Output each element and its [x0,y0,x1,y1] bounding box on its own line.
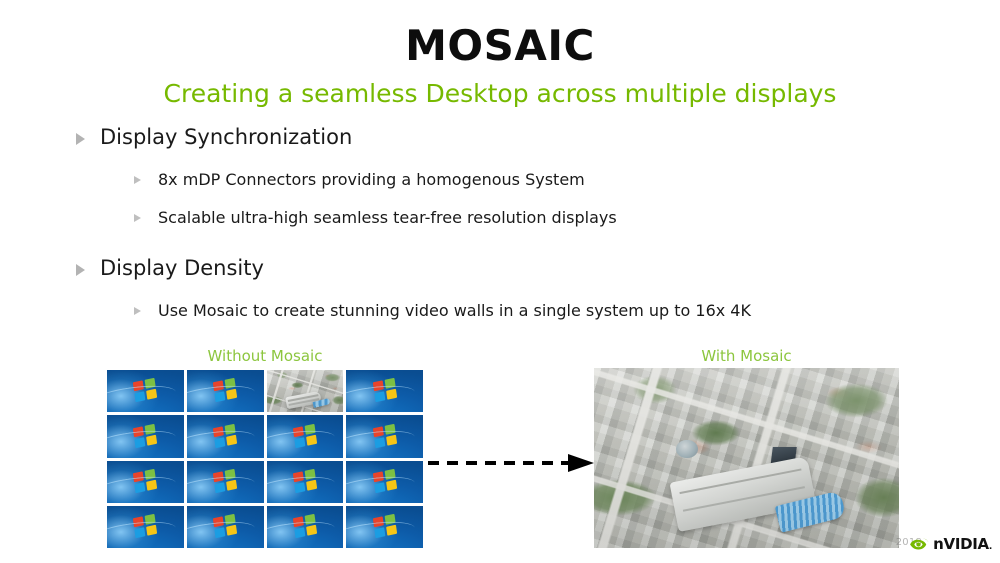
sub-bullet-triangle-icon [134,214,141,222]
windows-logo-icon [372,469,396,493]
bullet-list: Display Synchronization 8x mDP Connector… [70,122,950,327]
monitor-cell-wallpaper [107,461,184,503]
windows-logo-icon [372,378,396,402]
bullet-video-walls: Use Mosaic to create stunning video wall… [70,299,950,324]
aerial-city-image [267,370,344,412]
bullet-scalable-resolution: Scalable ultra-high seamless tear-free r… [70,206,950,231]
windows-logo-icon [133,469,157,493]
monitor-cell-wallpaper [346,461,423,503]
bullet-label: Display Synchronization [100,125,352,149]
windows-logo-icon [372,514,396,538]
bullet-triangle-icon [76,264,85,276]
aerial-city-image [594,368,899,548]
monitor-cell-wallpaper [267,415,344,457]
monitor-cell-wallpaper [187,415,264,457]
page-subtitle: Creating a seamless Desktop across multi… [0,80,1000,109]
monitor-cell-wallpaper [346,506,423,548]
monitor-cell-aerial [267,370,344,412]
windows-logo-icon [213,378,237,402]
windows-logo-icon [293,514,317,538]
sub-bullet-label: Scalable ultra-high seamless tear-free r… [158,208,617,227]
sub-bullet-label: Use Mosaic to create stunning video wall… [158,301,751,320]
sub-bullet-label: 8x mDP Connectors providing a homogenous… [158,170,585,189]
windows-logo-icon [372,423,396,447]
nvidia-logo: nVIDIA. [910,537,992,552]
bullet-label: Display Density [100,256,264,280]
monitor-wall-without-mosaic [107,370,423,548]
windows-logo-icon [293,423,317,447]
windows-logo-icon [293,469,317,493]
bullet-mdp-connectors: 8x mDP Connectors providing a homogenous… [70,168,950,193]
page-title: MOSAIC [0,24,1000,68]
nvidia-wordmark: nVIDIA. [933,537,992,552]
monitor-cell-wallpaper [187,506,264,548]
monitor-cell-wallpaper [267,461,344,503]
monitor-cell-wallpaper [267,506,344,548]
display-with-mosaic [594,368,899,548]
windows-logo-icon [213,514,237,538]
windows-logo-icon [213,423,237,447]
windows-logo-icon [133,423,157,447]
monitor-cell-wallpaper [346,415,423,457]
bullet-display-density: Display Density [70,253,950,285]
monitor-cell-wallpaper [107,415,184,457]
windows-logo-icon [133,378,157,402]
sub-bullet-triangle-icon [134,307,141,315]
bullet-display-synchronization: Display Synchronization [70,122,950,154]
monitor-cell-wallpaper [107,506,184,548]
caption-without-mosaic: Without Mosaic [107,347,423,365]
monitor-cell-wallpaper [187,461,264,503]
sub-bullet-triangle-icon [134,176,141,184]
image-haze-overlay [594,368,899,548]
nvidia-eye-icon [910,537,929,552]
monitor-cell-wallpaper [107,370,184,412]
windows-logo-icon [213,469,237,493]
bullet-triangle-icon [76,133,85,145]
monitor-cell-wallpaper [346,370,423,412]
transition-arrow [428,452,594,474]
caption-with-mosaic: With Mosaic [594,347,899,365]
windows-logo-icon [133,514,157,538]
image-haze-overlay [267,370,344,412]
dashed-arrow-icon [428,452,594,474]
monitor-cell-wallpaper [187,370,264,412]
